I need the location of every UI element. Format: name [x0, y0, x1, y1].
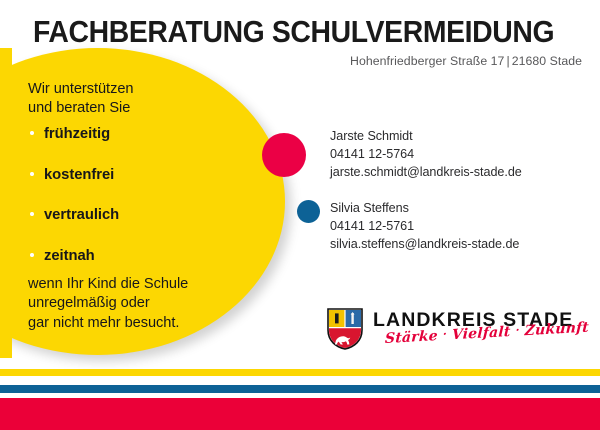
page-title: FACHBERATUNG SCHULVERMEIDUNG	[33, 17, 554, 48]
address-street: Hohenfriedberger Straße 17	[350, 54, 504, 68]
contact-phone[interactable]: 04141 12-5764	[330, 146, 522, 164]
contact-details: Jarste Schmidt 04141 12-5764 jarste.schm…	[330, 128, 522, 182]
stripe-yellow	[0, 369, 600, 376]
contact-details: Silvia Steffens 04141 12-5761 silvia.ste…	[330, 200, 519, 254]
circle-copy-block: Wir unterstützen und beraten Sie frühzei…	[28, 80, 258, 333]
contact-name: Silvia Steffens	[330, 200, 519, 218]
intro-line-2: und beraten Sie	[28, 99, 258, 118]
address-line: Hohenfriedberger Straße 17|21680 Stade	[350, 54, 582, 68]
outro-text: wenn Ihr Kind die Schule unregelmäßig od…	[28, 275, 258, 333]
tagline-separator-1: ·	[443, 327, 448, 340]
logo-text-block: LANDKREIS STADE Stärke · Vielfalt · Zuku…	[373, 308, 589, 346]
benefits-list: frühzeitig kostenfrei vertraulich zeitna…	[28, 127, 258, 264]
outro-line-2: unregelmäßig oder	[28, 294, 258, 313]
landkreis-stade-logo: LANDKREIS STADE Stärke · Vielfalt · Zuku…	[327, 308, 589, 350]
coat-of-arms-icon	[327, 308, 363, 350]
outro-line-3: gar nicht mehr besucht.	[28, 314, 258, 333]
stripe-blue	[0, 385, 600, 393]
blue-dot-icon	[297, 200, 320, 223]
contact-name: Jarste Schmidt	[330, 128, 522, 146]
bullet-dot-icon	[30, 172, 34, 176]
list-item-label: frühzeitig	[44, 126, 110, 142]
red-dot-icon	[262, 133, 306, 177]
contacts-block: Jarste Schmidt 04141 12-5764 jarste.schm…	[262, 126, 582, 252]
list-item-label: zeitnah	[44, 248, 95, 264]
bullet-dot-icon	[30, 212, 34, 216]
stripe-red	[0, 398, 600, 430]
list-item-label: vertraulich	[44, 207, 119, 223]
list-item-label: kostenfrei	[44, 167, 114, 183]
list-item: kostenfrei	[28, 168, 258, 183]
list-item: vertraulich	[28, 208, 258, 223]
bullet-dot-icon	[30, 131, 34, 135]
tagline-separator-2: ·	[515, 323, 520, 336]
list-item: zeitnah	[28, 249, 258, 264]
contact-email[interactable]: jarste.schmidt@landkreis-stade.de	[330, 164, 522, 182]
bullet-dot-icon	[30, 253, 34, 257]
tagline-word-1: Stärke	[385, 328, 439, 347]
yellow-circle-edge-fill	[0, 48, 12, 358]
intro-text: Wir unterstützen und beraten Sie	[28, 80, 258, 119]
tagline-word-3: Zukunft	[524, 319, 589, 339]
flyer-poster: FACHBERATUNG SCHULVERMEIDUNG Hohenfriedb…	[0, 0, 600, 430]
tagline-word-2: Vielfalt	[452, 323, 511, 342]
outro-line-1: wenn Ihr Kind die Schule	[28, 275, 258, 294]
address-separator: |	[506, 54, 509, 68]
contact-card: Jarste Schmidt 04141 12-5764 jarste.schm…	[262, 126, 582, 178]
contact-phone[interactable]: 04141 12-5761	[330, 218, 519, 236]
contact-card: Silvia Steffens 04141 12-5761 silvia.ste…	[262, 200, 582, 252]
intro-line-1: Wir unterstützen	[28, 80, 258, 99]
list-item: frühzeitig	[28, 127, 258, 142]
address-city: 21680 Stade	[512, 54, 582, 68]
contact-email[interactable]: silvia.steffens@landkreis-stade.de	[330, 236, 519, 254]
